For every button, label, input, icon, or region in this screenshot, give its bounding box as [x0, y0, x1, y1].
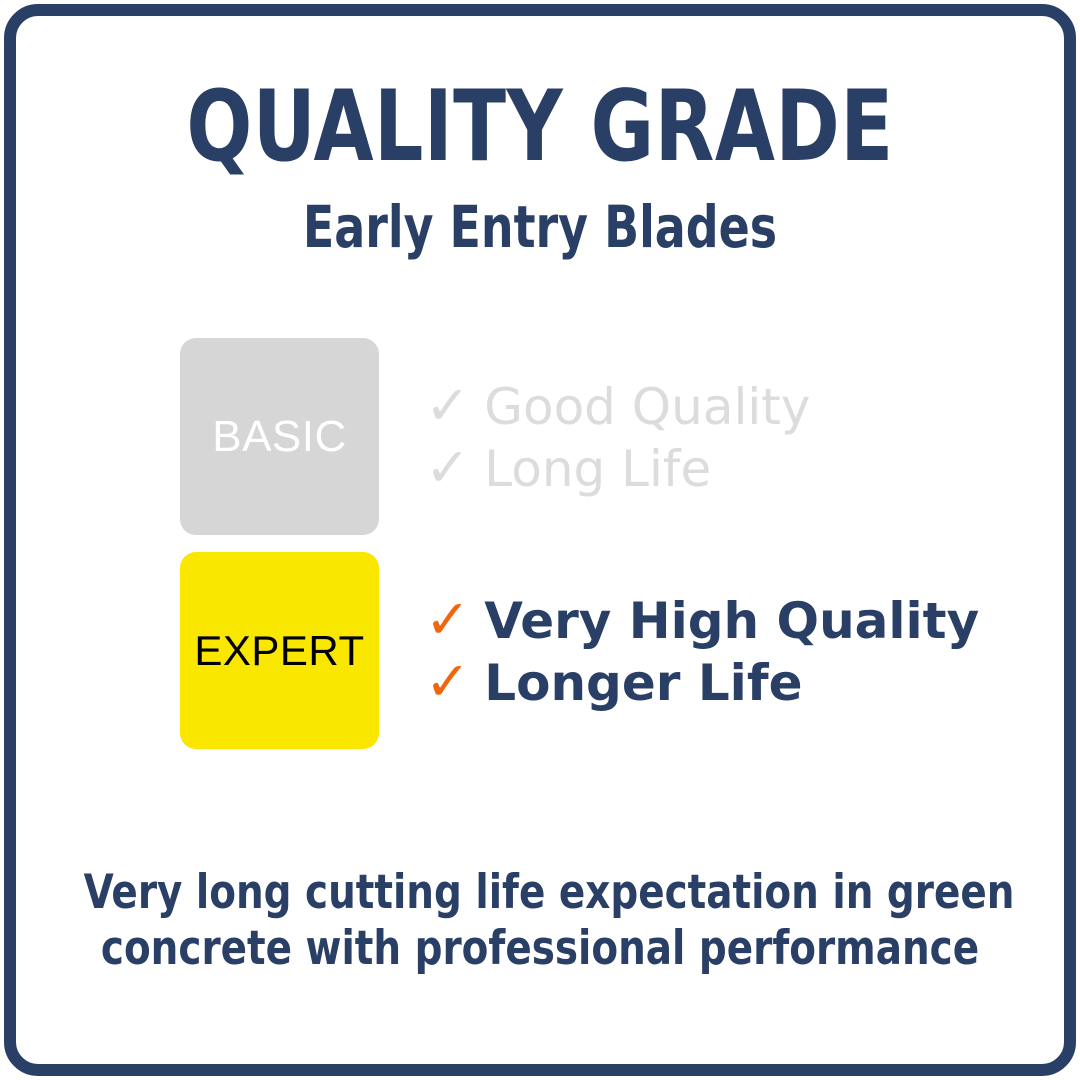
feature-list-basic: ✓ Good Quality ✓ Long Life: [425, 375, 810, 499]
checkmark-icon: ✓: [425, 437, 470, 499]
footer-line-2: concrete with professional performance: [84, 921, 997, 976]
footer-description: Very long cutting life expectation in gr…: [16, 865, 1064, 976]
checkmark-icon: ✓: [425, 589, 470, 651]
badge-basic: BASIC: [180, 338, 379, 535]
badge-basic-label: BASIC: [212, 415, 347, 459]
feature-label: Very High Quality: [484, 591, 979, 651]
tier-row-basic: BASIC ✓ Good Quality ✓ Long Life: [180, 338, 1064, 535]
feature-item: ✓ Good Quality: [425, 375, 810, 437]
feature-label: Good Quality: [484, 377, 810, 437]
feature-label: Longer Life: [484, 653, 802, 713]
header: QUALITY GRADE Early Entry Blades: [16, 78, 1064, 256]
tier-row-expert: EXPERT ✓ Very High Quality ✓ Longer Life: [180, 552, 1064, 749]
page-subtitle: Early Entry Blades: [79, 198, 1001, 256]
tier-list: BASIC ✓ Good Quality ✓ Long Life EXPERT: [16, 338, 1064, 749]
feature-item: ✓ Longer Life: [425, 651, 979, 713]
footer-line-1: Very long cutting life expectation in gr…: [84, 865, 997, 920]
checkmark-icon: ✓: [425, 651, 470, 713]
feature-item: ✓ Very High Quality: [425, 589, 979, 651]
quality-grade-infographic: QUALITY GRADE Early Entry Blades BASIC ✓…: [0, 0, 1080, 1080]
card-content: QUALITY GRADE Early Entry Blades BASIC ✓…: [16, 16, 1064, 1064]
badge-expert: EXPERT: [180, 552, 379, 749]
feature-label: Long Life: [484, 439, 711, 499]
feature-list-expert: ✓ Very High Quality ✓ Longer Life: [425, 589, 979, 713]
page-title: QUALITY GRADE: [79, 78, 1001, 176]
checkmark-icon: ✓: [425, 375, 470, 437]
badge-expert-label: EXPERT: [194, 630, 364, 672]
feature-item: ✓ Long Life: [425, 437, 810, 499]
